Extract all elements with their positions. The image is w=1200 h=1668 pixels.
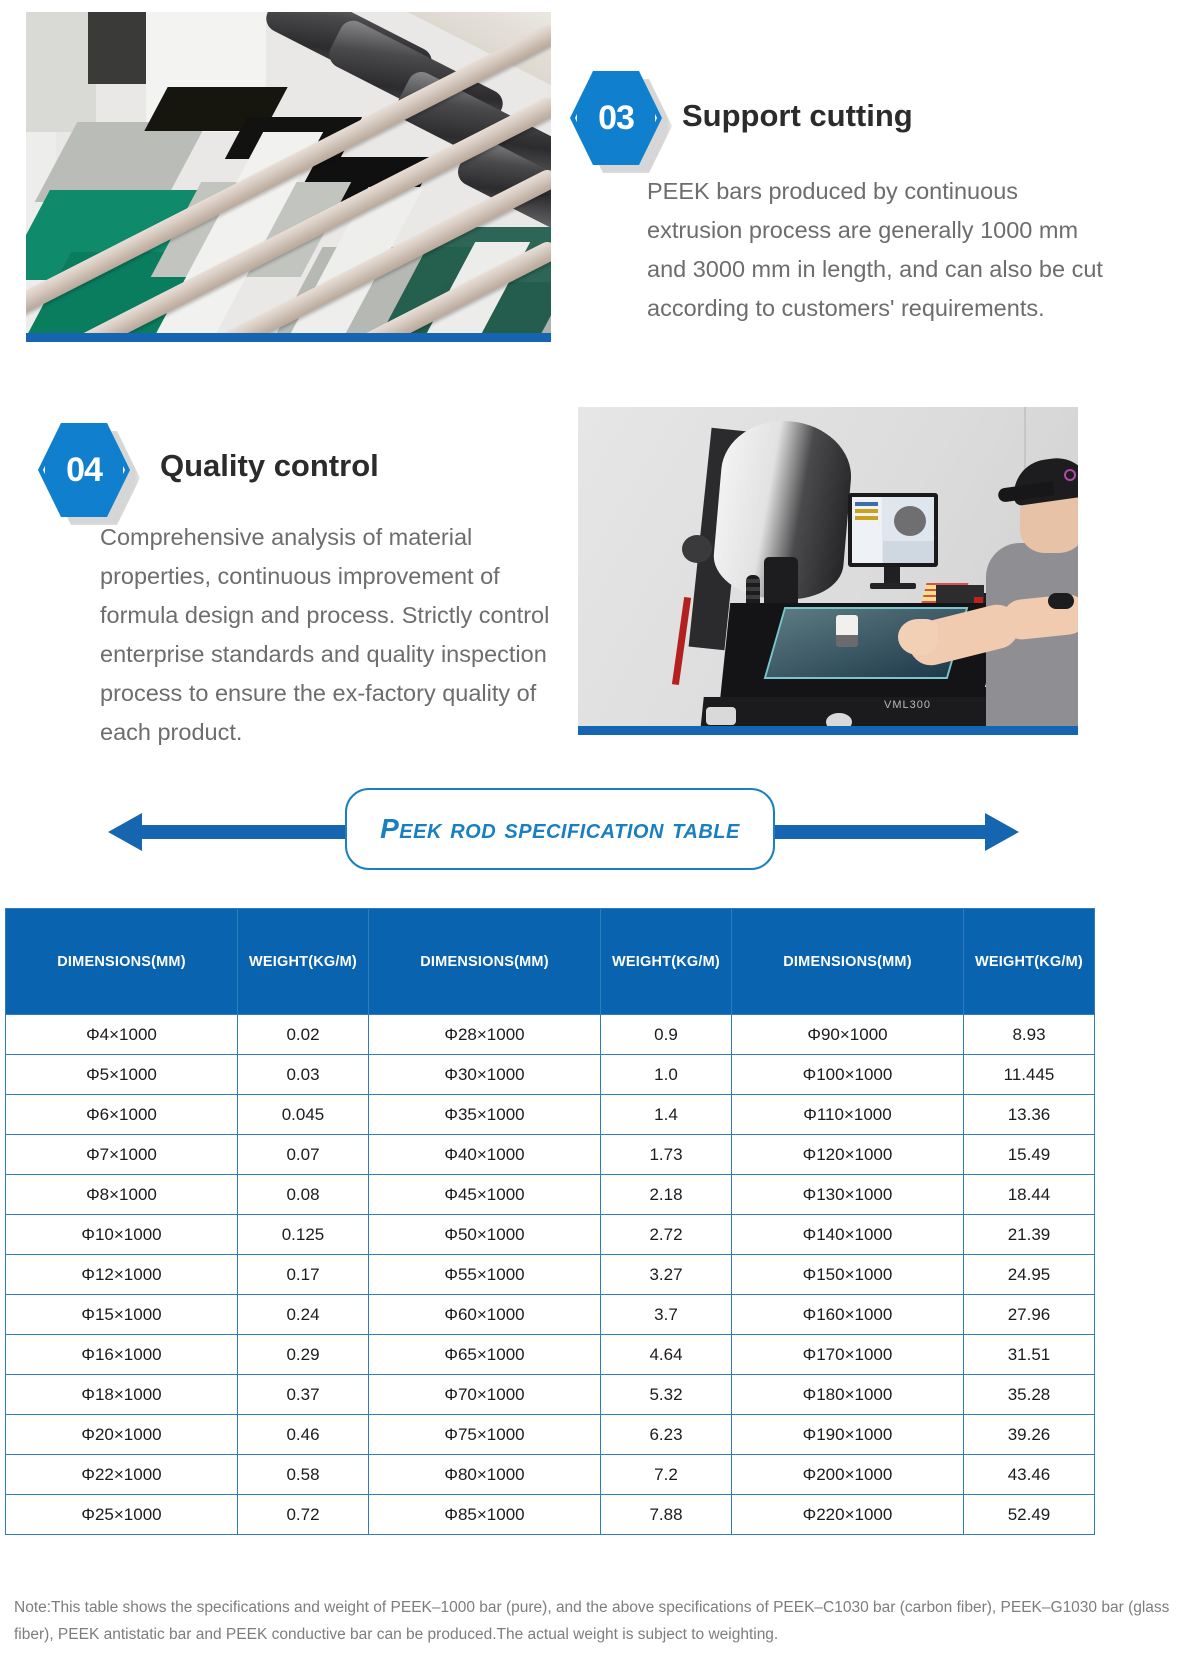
table-cell: 1.4	[601, 1095, 732, 1135]
table-cell: 1.0	[601, 1055, 732, 1095]
table-cell: 0.045	[238, 1095, 369, 1135]
table-cell: 0.46	[238, 1415, 369, 1455]
table-cell: 0.08	[238, 1175, 369, 1215]
table-cell: Φ130×1000	[732, 1175, 964, 1215]
table-cell: Φ50×1000	[369, 1215, 601, 1255]
table-cell: Φ55×1000	[369, 1255, 601, 1295]
table-cell: Φ22×1000	[6, 1455, 238, 1495]
table-cell: Φ45×1000	[369, 1175, 601, 1215]
table-cell: 35.28	[964, 1375, 1095, 1415]
table-cell: Φ90×1000	[732, 1015, 964, 1055]
table-row: Φ4×10000.02Φ28×10000.9Φ90×10008.93	[6, 1015, 1095, 1055]
table-cell: 52.49	[964, 1495, 1095, 1535]
column-header: WEIGHT(KG/M)	[964, 909, 1095, 1015]
table-cell: 0.17	[238, 1255, 369, 1295]
table-cell: 0.24	[238, 1295, 369, 1335]
column-header: WEIGHT(KG/M)	[601, 909, 732, 1015]
column-header: DIMENSIONS(MM)	[732, 909, 964, 1015]
table-cell: 21.39	[964, 1215, 1095, 1255]
spec-table-banner: Peek rod specification table	[0, 775, 1200, 890]
table-row: Φ16×10000.29Φ65×10004.64Φ170×100031.51	[6, 1335, 1095, 1375]
table-cell: 0.02	[238, 1015, 369, 1055]
table-row: Φ5×10000.03Φ30×10001.0Φ100×100011.445	[6, 1055, 1095, 1095]
table-cell: 2.18	[601, 1175, 732, 1215]
table-cell: 13.36	[964, 1095, 1095, 1135]
table-cell: 6.23	[601, 1415, 732, 1455]
table-cell: Φ12×1000	[6, 1255, 238, 1295]
peek-rod-spec-table: DIMENSIONS(MM) WEIGHT(KG/M) DIMENSIONS(M…	[5, 908, 1095, 1535]
step-badge-03: 03	[570, 68, 666, 172]
table-cell: Φ85×1000	[369, 1495, 601, 1535]
step-number: 03	[570, 68, 662, 168]
table-cell: Φ35×1000	[369, 1095, 601, 1135]
table-row: Φ8×10000.08Φ45×10002.18Φ130×100018.44	[6, 1175, 1095, 1215]
table-cell: Φ7×1000	[6, 1135, 238, 1175]
banner-box: Peek rod specification table	[345, 788, 775, 870]
table-cell: 24.95	[964, 1255, 1095, 1295]
table-cell: 31.51	[964, 1335, 1095, 1375]
table-cell: 0.58	[238, 1455, 369, 1495]
table-cell: Φ180×1000	[732, 1375, 964, 1415]
section-title-04: Quality control	[160, 448, 379, 484]
table-cell: Φ20×1000	[6, 1415, 238, 1455]
table-cell: 8.93	[964, 1015, 1095, 1055]
machine-model-label: VML300	[884, 699, 931, 711]
table-row: Φ12×10000.17Φ55×10003.27Φ150×100024.95	[6, 1255, 1095, 1295]
table-row: Φ10×10000.125Φ50×10002.72Φ140×100021.39	[6, 1215, 1095, 1255]
column-header: DIMENSIONS(MM)	[6, 909, 238, 1015]
table-cell: Φ15×1000	[6, 1295, 238, 1335]
table-cell: Φ40×1000	[369, 1135, 601, 1175]
table-cell: 3.27	[601, 1255, 732, 1295]
table-row: Φ15×10000.24Φ60×10003.7Φ160×100027.96	[6, 1295, 1095, 1335]
table-cell: 3.7	[601, 1295, 732, 1335]
table-cell: 0.29	[238, 1335, 369, 1375]
table-cell: Φ10×1000	[6, 1215, 238, 1255]
table-cell: 0.9	[601, 1015, 732, 1055]
table-cell: Φ6×1000	[6, 1095, 238, 1135]
table-cell: 1.73	[601, 1135, 732, 1175]
product-spec-page: 03 Support cutting PEEK bars produced by…	[0, 0, 1200, 1668]
table-cell: Φ190×1000	[732, 1415, 964, 1455]
table-cell: Φ16×1000	[6, 1335, 238, 1375]
table-cell: Φ170×1000	[732, 1335, 964, 1375]
table-cell: 0.125	[238, 1215, 369, 1255]
table-note: Note:This table shows the specifications…	[14, 1594, 1186, 1648]
table-cell: Φ80×1000	[369, 1455, 601, 1495]
table-cell: 0.07	[238, 1135, 369, 1175]
table-header-row: DIMENSIONS(MM) WEIGHT(KG/M) DIMENSIONS(M…	[6, 909, 1095, 1015]
table-cell: Φ18×1000	[6, 1375, 238, 1415]
table-row: Φ25×10000.72Φ85×10007.88Φ220×100052.49	[6, 1495, 1095, 1535]
section-body-04: Comprehensive analysis of material prope…	[100, 518, 568, 752]
section-title-03: Support cutting	[682, 98, 913, 134]
table-cell: Φ200×1000	[732, 1455, 964, 1495]
table-row: Φ22×10000.58Φ80×10007.2Φ200×100043.46	[6, 1455, 1095, 1495]
section-body-03: PEEK bars produced by continuous extrusi…	[647, 172, 1115, 328]
table-cell: 18.44	[964, 1175, 1095, 1215]
section-support-cutting: 03 Support cutting PEEK bars produced by…	[0, 0, 1200, 380]
table-cell: 43.46	[964, 1455, 1095, 1495]
table-cell: Φ150×1000	[732, 1255, 964, 1295]
step-badge-04: 04	[38, 420, 134, 524]
table-cell: Φ70×1000	[369, 1375, 601, 1415]
table-cell: 15.49	[964, 1135, 1095, 1175]
step-number: 04	[38, 420, 130, 520]
section-quality-control: 04 Quality control Comprehensive analysi…	[0, 395, 1200, 775]
banner-title: Peek rod specification table	[380, 813, 740, 845]
table-cell: 7.2	[601, 1455, 732, 1495]
table-row: Φ18×10000.37Φ70×10005.32Φ180×100035.28	[6, 1375, 1095, 1415]
arrow-left-icon	[108, 813, 142, 851]
table-cell: Φ60×1000	[369, 1295, 601, 1335]
table-cell: Φ220×1000	[732, 1495, 964, 1535]
column-header: WEIGHT(KG/M)	[238, 909, 369, 1015]
table-cell: Φ4×1000	[6, 1015, 238, 1055]
table-cell: Φ28×1000	[369, 1015, 601, 1055]
table-cell: 7.88	[601, 1495, 732, 1535]
table-row: Φ7×10000.07Φ40×10001.73Φ120×100015.49	[6, 1135, 1095, 1175]
arrow-right-icon	[985, 813, 1019, 851]
table-cell: 4.64	[601, 1335, 732, 1375]
table-cell: Φ8×1000	[6, 1175, 238, 1215]
table-cell: Φ25×1000	[6, 1495, 238, 1535]
table-cell: Φ160×1000	[732, 1295, 964, 1335]
measuring-machine-photo: VML300	[578, 407, 1078, 735]
table-cell: Φ65×1000	[369, 1335, 601, 1375]
table-row: Φ20×10000.46Φ75×10006.23Φ190×100039.26	[6, 1415, 1095, 1455]
table-body: Φ4×10000.02Φ28×10000.9Φ90×10008.93Φ5×100…	[6, 1015, 1095, 1535]
table-cell: Φ5×1000	[6, 1055, 238, 1095]
table-cell: 2.72	[601, 1215, 732, 1255]
table-cell: 0.72	[238, 1495, 369, 1535]
table-cell: Φ120×1000	[732, 1135, 964, 1175]
table-cell: Φ110×1000	[732, 1095, 964, 1135]
column-header: DIMENSIONS(MM)	[369, 909, 601, 1015]
spec-table-wrapper: DIMENSIONS(MM) WEIGHT(KG/M) DIMENSIONS(M…	[5, 908, 1095, 1535]
table-cell: 5.32	[601, 1375, 732, 1415]
table-cell: 11.445	[964, 1055, 1095, 1095]
table-row: Φ6×10000.045Φ35×10001.4Φ110×100013.36	[6, 1095, 1095, 1135]
table-cell: 0.37	[238, 1375, 369, 1415]
table-cell: Φ30×1000	[369, 1055, 601, 1095]
table-cell: 0.03	[238, 1055, 369, 1095]
table-cell: Φ75×1000	[369, 1415, 601, 1455]
extrusion-line-photo	[26, 12, 551, 342]
table-cell: Φ140×1000	[732, 1215, 964, 1255]
table-cell: Φ100×1000	[732, 1055, 964, 1095]
table-cell: 27.96	[964, 1295, 1095, 1335]
table-cell: 39.26	[964, 1415, 1095, 1455]
